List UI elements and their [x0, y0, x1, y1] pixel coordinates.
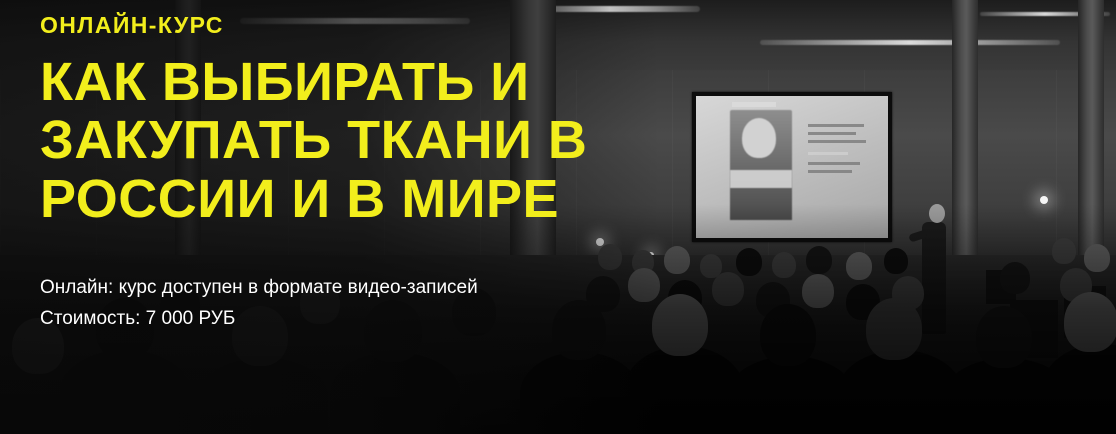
- hero-content: ОНЛАЙН-КУРС КАК ВЫБИРАТЬ И ЗАКУПАТЬ ТКАН…: [40, 14, 680, 335]
- headline-line-2: ЗАКУПАТЬ ТКАНИ В: [40, 111, 680, 169]
- course-details: Онлайн: курс доступен в формате видео-за…: [40, 272, 680, 335]
- headline-line-3: РОССИИ И В МИРЕ: [40, 170, 680, 228]
- course-hero-banner: ОНЛАЙН-КУРС КАК ВЫБИРАТЬ И ЗАКУПАТЬ ТКАН…: [0, 0, 1116, 434]
- course-eyebrow-label: ОНЛАЙН-КУРС: [40, 14, 680, 37]
- page-title: КАК ВЫБИРАТЬ И ЗАКУПАТЬ ТКАНИ В РОССИИ И…: [40, 53, 680, 228]
- course-format-line: Онлайн: курс доступен в формате видео-за…: [40, 272, 680, 303]
- course-price-line: Стоимость: 7 000 РУБ: [40, 303, 680, 334]
- headline-line-1: КАК ВЫБИРАТЬ И: [40, 53, 680, 111]
